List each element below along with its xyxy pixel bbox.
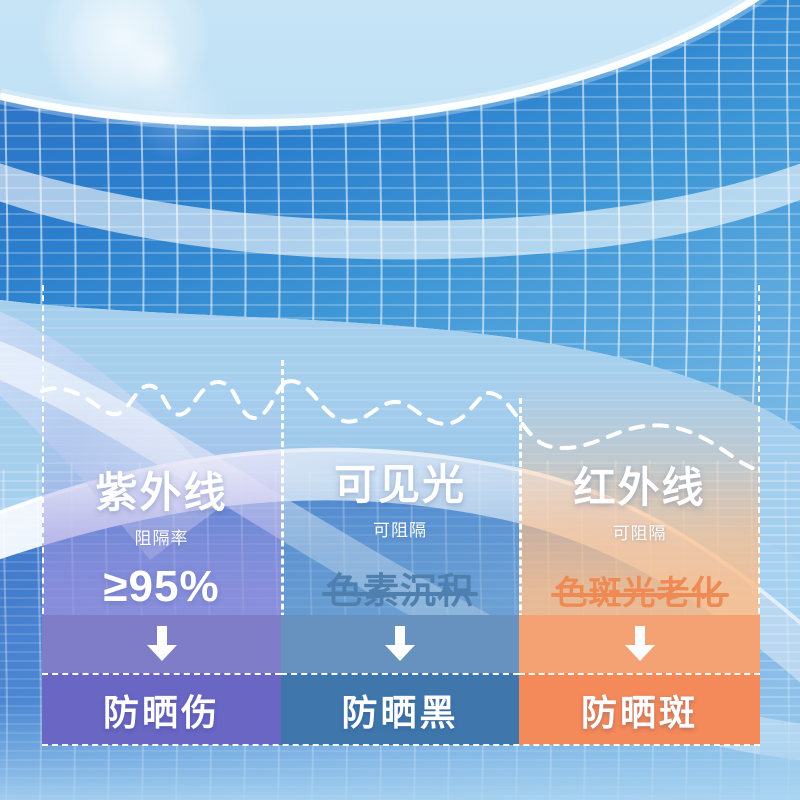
visible-text-block: 可见光 可阻隔 色素沉积 [281,463,519,615]
uv-result-bar: 防晒伤 [42,673,281,745]
infrared-text-block: 红外线 可阻隔 色斑光老化 [519,466,760,615]
visible-title: 可见光 [281,463,519,507]
visible-result-bar: 防晒黑 [281,673,519,745]
down-arrow-icon [623,626,657,662]
uv-text-block: 紫外线 阻隔率 ≥95% [42,471,281,615]
uv-subtitle: 阻隔率 [42,524,281,549]
visible-subtitle: 可阻隔 [281,516,519,541]
infrared-effect: 色斑光老化 [555,576,725,609]
visible-result-label: 防晒黑 [341,684,458,736]
uv-result-label: 防晒伤 [103,684,220,736]
uv-value: ≥95% [42,565,281,609]
visible-arrow-strip [281,615,519,673]
column-infrared: 红外线 可阻隔 色斑光老化 防晒斑 [519,285,760,745]
visible-effect: 色素沉积 [326,573,474,609]
uv-arrow-strip [42,615,281,673]
infrared-arrow-strip [519,615,760,673]
uv-title: 紫外线 [42,471,281,515]
spectrum-columns: 紫外线 阻隔率 ≥95% 防晒伤 可见光 可阻隔 色素沉积 [42,285,760,745]
poster-canvas: 紫外线 阻隔率 ≥95% 防晒伤 可见光 可阻隔 色素沉积 [0,0,800,800]
infrared-result-bar: 防晒斑 [519,673,760,745]
down-arrow-icon [145,626,179,662]
infrared-title: 红外线 [519,466,760,510]
infrared-result-label: 防晒斑 [581,684,698,736]
column-visible-light: 可见光 可阻隔 色素沉积 防晒黑 [281,285,519,745]
infrared-subtitle: 可阻隔 [519,519,760,544]
down-arrow-icon [383,626,417,662]
column-uv: 紫外线 阻隔率 ≥95% 防晒伤 [42,285,281,745]
